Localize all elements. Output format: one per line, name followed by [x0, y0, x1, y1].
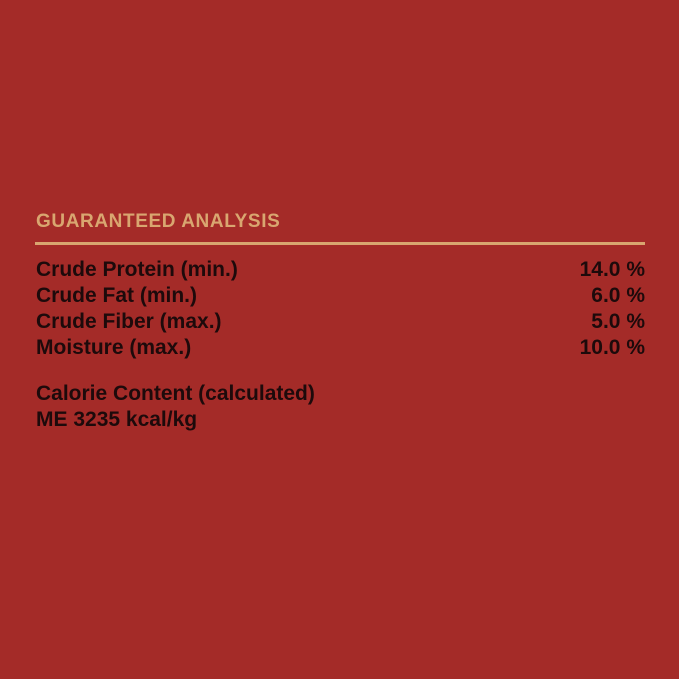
table-row: Crude Fiber (max.) 5.0 %: [35, 309, 645, 335]
nutrient-value: 14.0 %: [496, 257, 645, 283]
table-row: Crude Fat (min.) 6.0 %: [35, 283, 645, 309]
page-title: GUARANTEED ANALYSIS: [36, 212, 645, 232]
heading-divider: [35, 242, 645, 245]
calorie-content-title: Calorie Content (calculated): [35, 381, 645, 407]
nutrient-label: Moisture (max.): [35, 335, 496, 361]
nutrient-value: 5.0 %: [496, 309, 645, 335]
calorie-content-block: Calorie Content (calculated) ME 3235 kca…: [35, 381, 645, 433]
nutrient-value: 10.0 %: [496, 335, 645, 361]
nutrient-value: 6.0 %: [496, 283, 645, 309]
guaranteed-analysis-table: Crude Protein (min.) 14.0 % Crude Fat (m…: [35, 257, 645, 361]
table-row: Crude Protein (min.) 14.0 %: [35, 257, 645, 283]
nutrient-label: Crude Fat (min.): [35, 283, 496, 309]
calorie-content-detail: ME 3235 kcal/kg: [35, 407, 645, 433]
nutrient-label: Crude Protein (min.): [35, 257, 496, 283]
guaranteed-analysis-panel: GUARANTEED ANALYSIS Crude Protein (min.)…: [35, 212, 645, 433]
table-row: Moisture (max.) 10.0 %: [35, 335, 645, 361]
nutrient-label: Crude Fiber (max.): [35, 309, 496, 335]
